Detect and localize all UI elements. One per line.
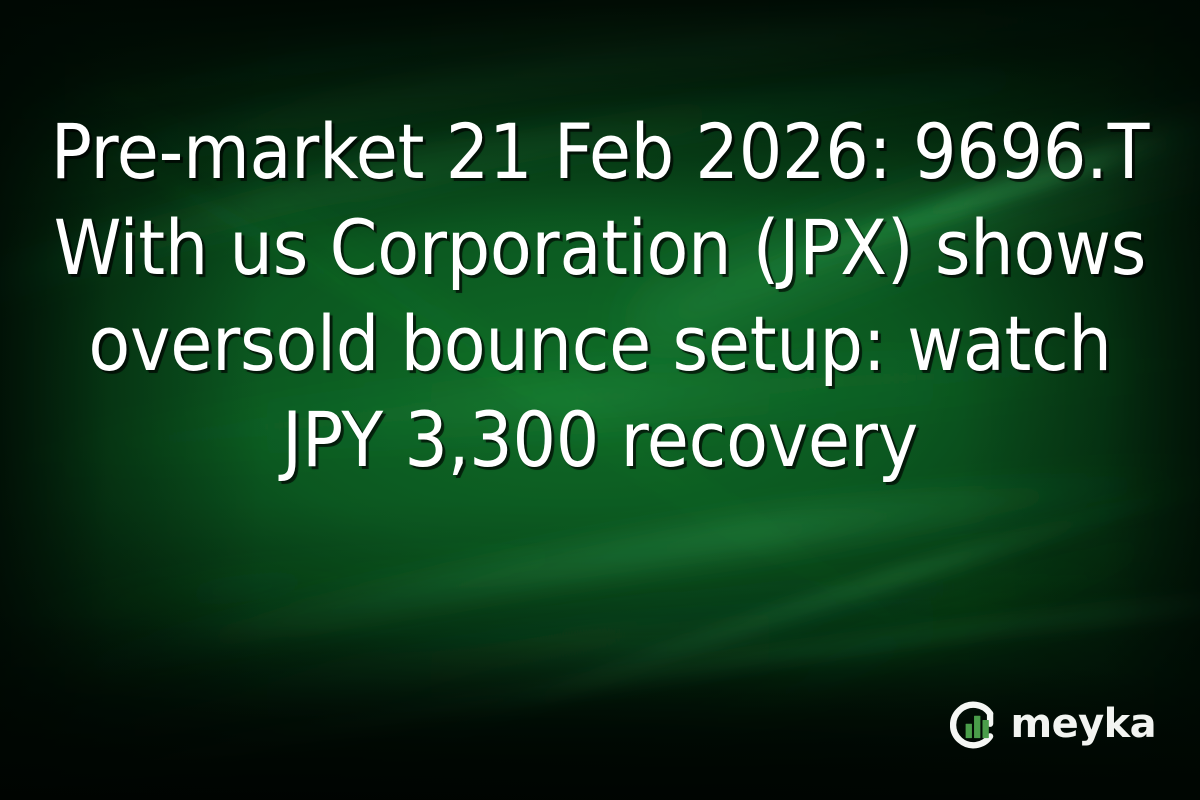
page-title: Pre-market 21 Feb 2026: 9696.T With us C… <box>40 104 1160 488</box>
social-share-card: Pre-market 21 Feb 2026: 9696.T With us C… <box>0 0 1200 800</box>
logo-bar-left <box>965 724 971 738</box>
meyka-circle-bars-logo-icon <box>950 698 1004 752</box>
brand-logo[interactable]: meyka <box>950 698 1156 752</box>
brand-wordmark: meyka <box>1011 704 1156 744</box>
headline-container: Pre-market 21 Feb 2026: 9696.T With us C… <box>0 104 1200 488</box>
logo-bar-right <box>982 720 988 738</box>
logo-bar-middle <box>974 716 980 738</box>
